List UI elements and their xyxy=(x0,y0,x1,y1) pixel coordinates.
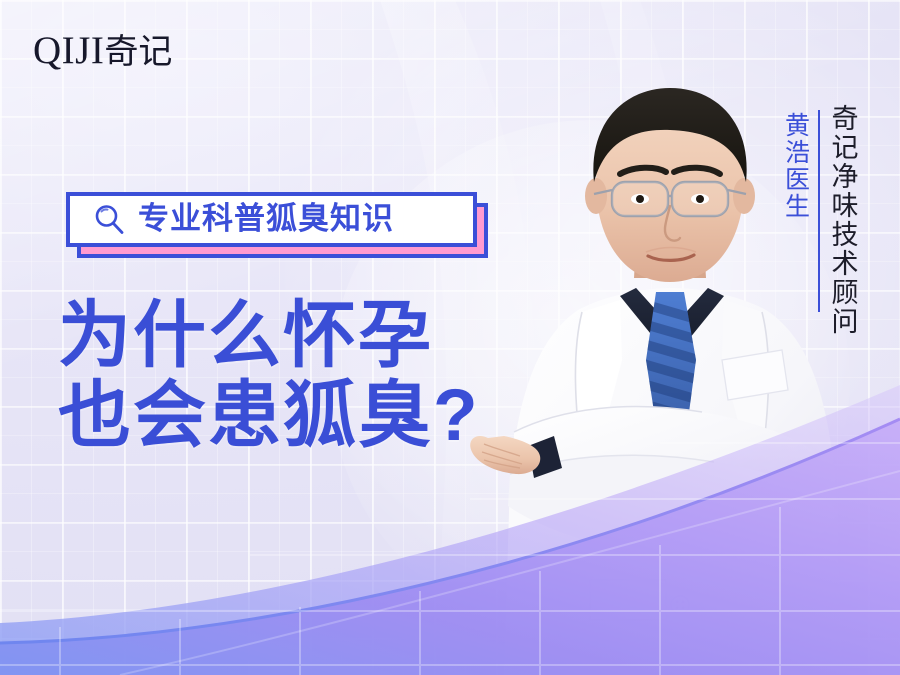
caption-divider xyxy=(818,110,820,312)
brand-logo-latin: QIJI xyxy=(33,29,104,72)
page-title-line1: 为什么怀孕 xyxy=(58,295,433,376)
expert-title: 奇记净味技术顾问 xyxy=(828,104,856,336)
expert-name: 黄浩医生 xyxy=(782,112,808,220)
brand-logo-cn: 奇记 xyxy=(104,34,172,71)
brand-logo[interactable]: QIJI奇记 xyxy=(33,31,172,70)
search-icon xyxy=(92,203,126,237)
topic-badge-label: 专业科普狐臭知识 xyxy=(138,203,394,234)
topic-badge[interactable]: 专业科普狐臭知识 xyxy=(66,192,488,258)
page-title-line2: 也会患狐臭? xyxy=(58,376,480,456)
page-title: 为什么怀孕 也会患狐臭? xyxy=(58,296,480,456)
poster-canvas: QIJI奇记 专业科普狐臭知识 为什么怀孕 也会患狐臭? 黄浩医生 奇记净味技术… xyxy=(0,0,900,675)
topic-badge-box[interactable]: 专业科普狐臭知识 xyxy=(66,192,477,247)
